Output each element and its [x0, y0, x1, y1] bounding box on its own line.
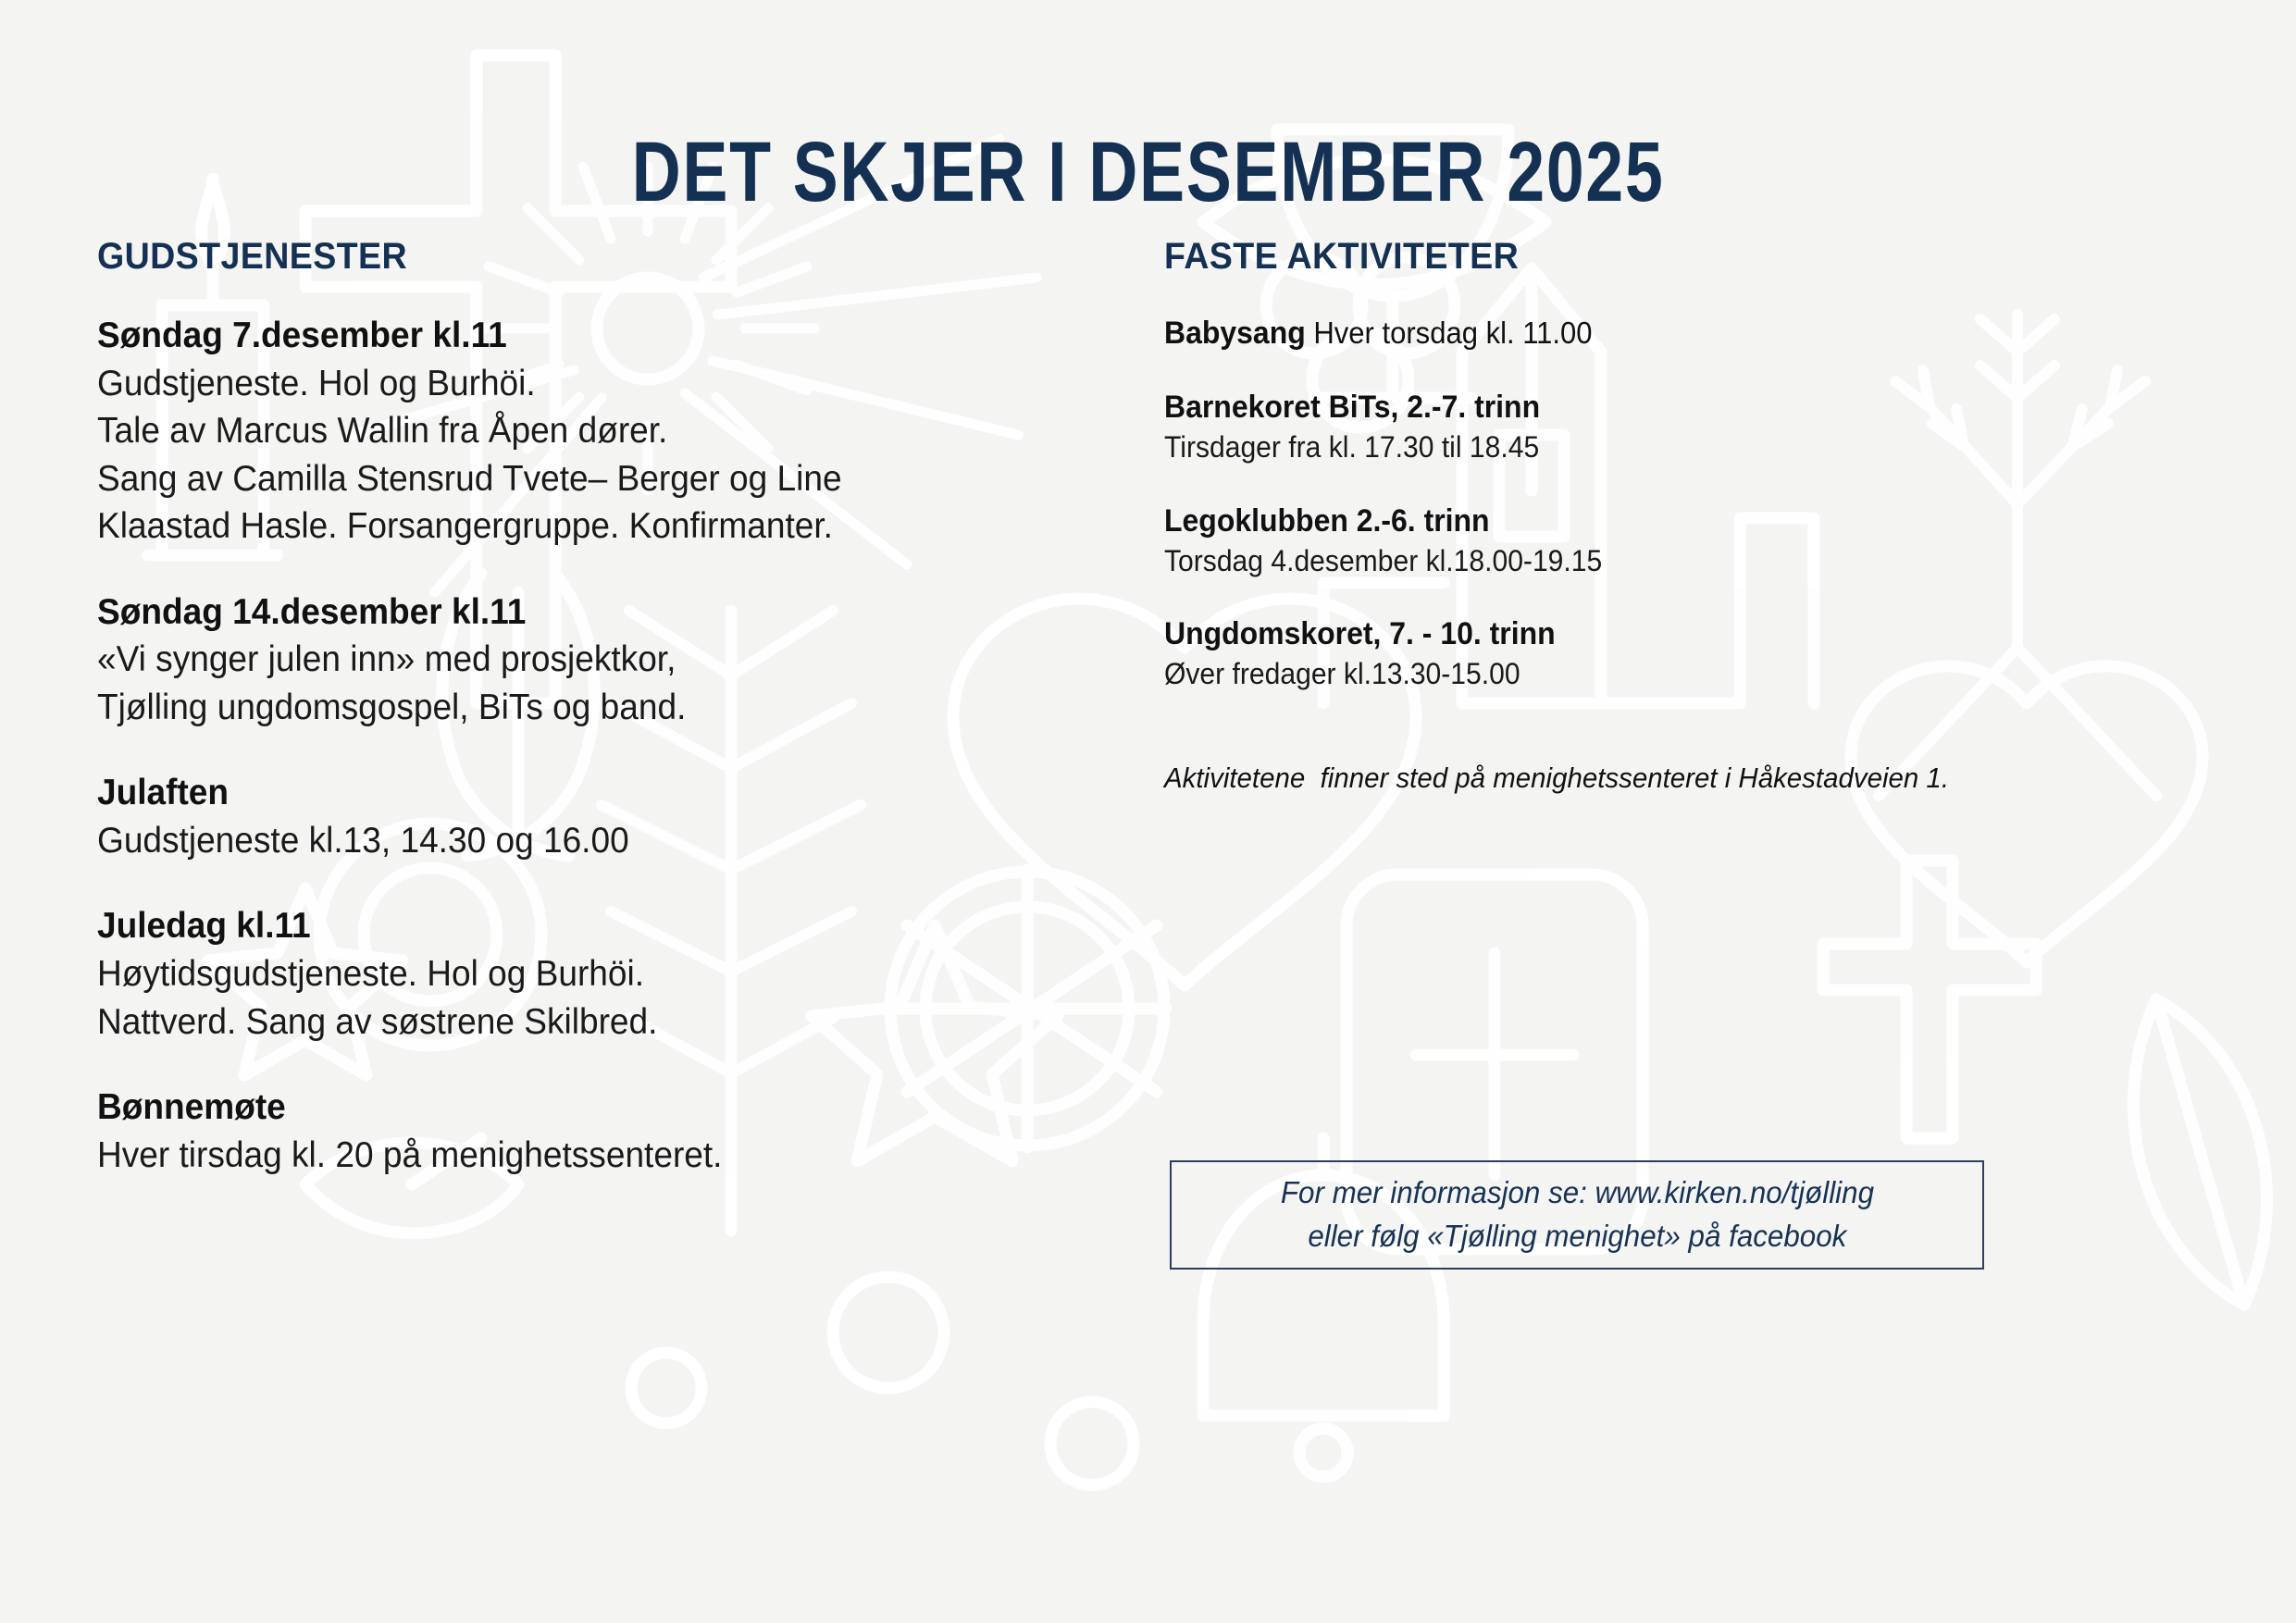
activities-column: FASTE AKTIVITETER Babysang Hver torsdag … [1164, 236, 2210, 798]
service-detail-line: Hver tirsdag kl. 20 på menighetssenteret… [97, 1132, 1029, 1179]
service-detail-line: «Vi synger julen inn» med prosjektkor, [97, 636, 1029, 683]
service-title: Julaften [97, 770, 1029, 817]
service-title: Søndag 14.desember kl.11 [97, 589, 1029, 637]
activity-title: Ungdomskoret, 7. - 10. trinn [1164, 613, 2147, 654]
service-detail-line: Gudstjeneste kl.13, 14.30 og 16.00 [97, 817, 1029, 864]
activity-title: Legoklubben 2.-6. trinn [1164, 501, 2147, 541]
services-heading: GUDSTJENESTER [97, 236, 1019, 278]
activities-heading: FASTE AKTIVITETER [1164, 236, 2147, 278]
service-entry: Bønnemøte Hver tirsdag kl. 20 på menighe… [97, 1084, 1078, 1179]
service-detail-line: Høytidsgudstjeneste. Hol og Burhöi. [97, 950, 1029, 997]
activity-entry: Babysang Hver torsdag kl. 11.00 [1164, 313, 2210, 353]
activity-schedule: Øver fredager kl.13.30-15.00 [1164, 654, 2147, 693]
page-title: DET SKJER I DESEMBER 2025 [230, 130, 2066, 215]
activities-location-note: Aktivitetene finner sted på menighetssen… [1164, 760, 2158, 797]
activity-entry: Legoklubben 2.-6. trinn Torsdag 4.desemb… [1164, 501, 2210, 580]
service-detail-line: Klaastad Hasle. Forsangergruppe. Konfirm… [97, 502, 1029, 550]
service-title: Juledag kl.11 [97, 903, 1029, 950]
activity-schedule: Tirsdager fra kl. 17.30 til 18.45 [1164, 427, 2147, 466]
poster-canvas: DET SKJER I DESEMBER 2025 GUDSTJENESTER … [0, 0, 2296, 1623]
service-title: Søndag 7.desember kl.11 [97, 313, 1029, 360]
more-info-box: For mer informasjon se: www.kirken.no/tj… [1170, 1160, 1984, 1270]
website-info-line: For mer informasjon se: www.kirken.no/tj… [1280, 1171, 1873, 1215]
service-detail-line: Nattverd. Sang av søstrene Skilbred. [97, 998, 1029, 1046]
service-entry: Julaften Gudstjeneste kl.13, 14.30 og 16… [97, 770, 1078, 864]
activity-schedule: Torsdag 4.desember kl.18.00-19.15 [1164, 541, 2147, 580]
activity-title: Babysang Hver torsdag kl. 11.00 [1164, 313, 2147, 353]
service-detail-line: Gudstjeneste. Hol og Burhöi. [97, 360, 1029, 407]
activity-inline-detail: Hver torsdag kl. 11.00 [1306, 316, 1593, 350]
activity-entry: Ungdomskoret, 7. - 10. trinn Øver fredag… [1164, 613, 2210, 693]
facebook-info-line: eller følg «Tjølling menighet» på facebo… [1308, 1215, 1846, 1258]
activity-name: Babysang [1164, 316, 1306, 351]
activity-title: Barnekoret BiTs, 2.-7. trinn [1164, 387, 2147, 427]
service-title: Bønnemøte [97, 1084, 1029, 1132]
service-entry: Søndag 14.desember kl.11 «Vi synger jule… [97, 589, 1078, 732]
service-detail-line: Tjølling ungdomsgospel, BiTs og band. [97, 684, 1029, 731]
service-detail-line: Tale av Marcus Wallin fra Åpen dører. [97, 407, 1029, 454]
service-entry: Søndag 7.desember kl.11 Gudstjeneste. Ho… [97, 313, 1078, 551]
activity-entry: Barnekoret BiTs, 2.-7. trinn Tirsdager f… [1164, 387, 2210, 466]
service-entry: Juledag kl.11 Høytidsgudstjeneste. Hol o… [97, 903, 1078, 1046]
activity-name: Barnekoret BiTs, 2.-7. trinn [1164, 390, 1540, 425]
services-column: GUDSTJENESTER Søndag 7.desember kl.11 Gu… [97, 236, 1078, 1179]
activity-name: Legoklubben 2.-6. trinn [1164, 503, 1490, 539]
service-detail-line: Sang av Camilla Stensrud Tvete– Berger o… [97, 455, 1029, 502]
activity-name: Ungdomskoret, 7. - 10. trinn [1164, 616, 1556, 651]
